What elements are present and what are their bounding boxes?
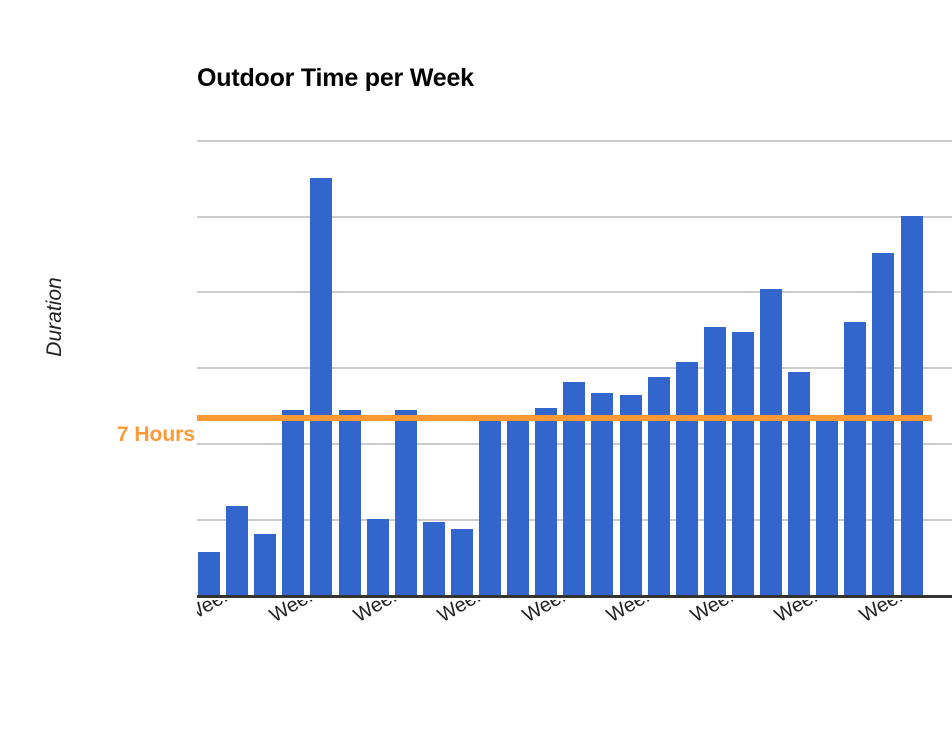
- bar[interactable]: [310, 178, 332, 595]
- plot-area: [197, 130, 952, 597]
- bar[interactable]: [816, 418, 838, 595]
- bar[interactable]: [451, 529, 473, 595]
- bar[interactable]: [226, 506, 248, 595]
- threshold-label: 7 Hours: [20, 423, 195, 447]
- bar[interactable]: [872, 253, 894, 595]
- bar-series: [197, 130, 952, 596]
- bar[interactable]: [760, 289, 782, 595]
- bar[interactable]: [901, 216, 923, 596]
- bar[interactable]: [198, 552, 220, 595]
- bar[interactable]: [535, 408, 557, 595]
- bar[interactable]: [479, 418, 501, 595]
- bar[interactable]: [282, 410, 304, 595]
- x-axis-tick-labels: Week 1 (Jan 2-8)Week 4 (Jan 23-…Week 7 (…: [197, 600, 952, 740]
- bar[interactable]: [339, 410, 361, 595]
- bar[interactable]: [367, 519, 389, 595]
- bar[interactable]: [704, 327, 726, 595]
- chart-title: Outdoor Time per Week: [197, 64, 474, 93]
- bar[interactable]: [788, 372, 810, 595]
- bar[interactable]: [423, 522, 445, 595]
- x-axis-line: [197, 595, 952, 598]
- bar[interactable]: [591, 393, 613, 595]
- bar[interactable]: [648, 377, 670, 595]
- bar[interactable]: [676, 362, 698, 595]
- x-axis-tick-label: Week 2…: [856, 600, 943, 628]
- chart-container: Outdoor Time per Week Duration 7 Hours W…: [0, 0, 952, 740]
- y-axis-label: Duration: [43, 257, 67, 377]
- bar[interactable]: [395, 410, 417, 595]
- threshold-line: [197, 415, 932, 421]
- bar[interactable]: [254, 534, 276, 595]
- bar[interactable]: [620, 395, 642, 595]
- bar[interactable]: [732, 332, 754, 595]
- bar[interactable]: [844, 322, 866, 595]
- bar[interactable]: [507, 418, 529, 595]
